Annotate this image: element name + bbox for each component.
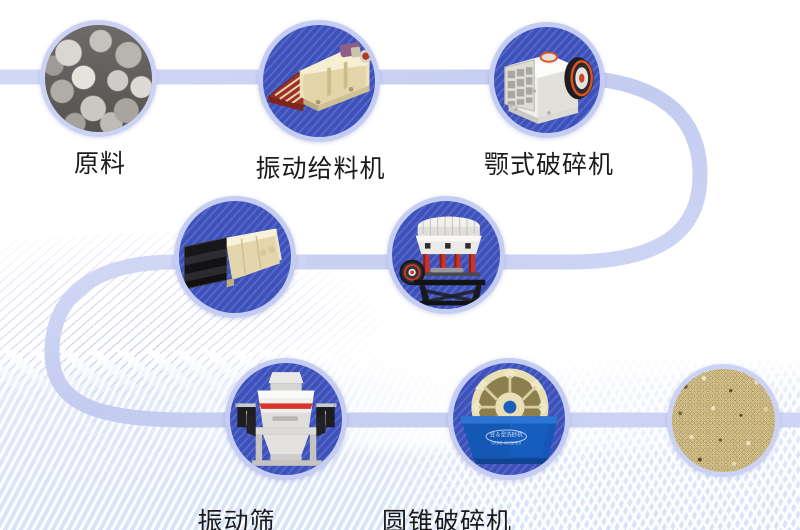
sand-washer-machine-icon: 豆＆型洗砂机 SAND WASHER xyxy=(453,363,565,475)
jaw-crusher-image xyxy=(489,22,605,138)
node-label-jaw-crusher: 颚式破碎机 xyxy=(484,145,614,181)
node-raw-material[interactable]: 原料 xyxy=(40,20,160,137)
node-jaw-crusher[interactable]: 颚式破碎机 xyxy=(489,22,609,138)
vibrating-screen-machine-icon xyxy=(179,201,291,313)
rock-pile-photo-icon xyxy=(45,25,152,132)
node-sand-making-machine[interactable]: 制砂机 xyxy=(225,358,350,480)
sand-making-machine-image xyxy=(225,358,347,480)
vibrating-screen-image xyxy=(174,196,296,318)
vibrating-feeder-machine-icon xyxy=(263,25,375,137)
cone-crusher-image xyxy=(387,196,505,314)
svg-text:豆＆型洗砂机: 豆＆型洗砂机 xyxy=(490,430,524,438)
vibrating-feeder-image xyxy=(258,20,380,142)
node-label-vibrating-screen: 振动筛 xyxy=(197,502,275,530)
node-finished-product[interactable]: 成品 xyxy=(667,364,782,477)
finished-sand-photo-icon xyxy=(672,369,775,472)
raw-material-image xyxy=(40,20,157,137)
sand-washer-image: 豆＆型洗砂机 SAND WASHER xyxy=(448,358,570,480)
node-vibrating-screen[interactable]: 振动筛 xyxy=(174,196,299,318)
node-label-vibrating-feeder: 振动给料机 xyxy=(255,149,385,185)
node-sand-washer[interactable]: 豆＆型洗砂机 SAND WASHER 洗砂机 xyxy=(448,358,573,480)
sand-making-machine-icon xyxy=(230,363,342,475)
node-label-cone-crusher: 圆锥破碎机 xyxy=(382,502,512,530)
finished-product-image xyxy=(667,364,780,477)
node-label-raw-material: 原料 xyxy=(74,144,126,180)
node-cone-crusher[interactable]: 圆锥破碎机 xyxy=(387,196,507,314)
cone-crusher-machine-icon xyxy=(392,201,500,309)
jaw-crusher-machine-icon xyxy=(494,27,600,133)
svg-text:SAND WASHER: SAND WASHER xyxy=(491,441,521,446)
node-vibrating-feeder[interactable]: 振动给料机 xyxy=(258,20,383,142)
process-flow-diagram: 原料 xyxy=(0,0,800,530)
